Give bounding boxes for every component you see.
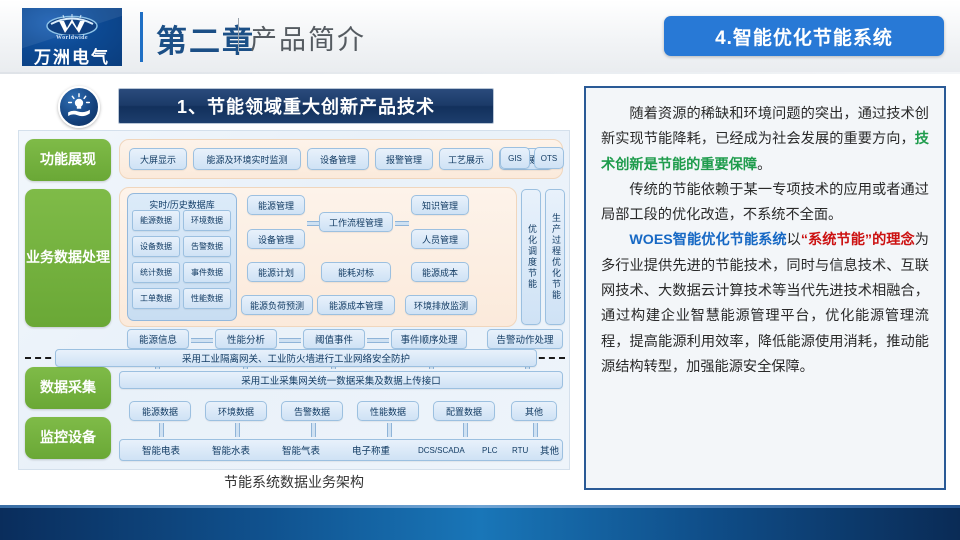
- proc-event-sequence[interactable]: 事件顺序处理: [391, 329, 467, 349]
- node-alarm-mgmt[interactable]: 报警管理: [375, 148, 433, 170]
- proc-threshold-event[interactable]: 阈值事件: [303, 329, 365, 349]
- p1-text-b: 。: [757, 157, 771, 173]
- diagram-caption: 节能系统数据业务架构: [18, 472, 570, 492]
- arrow-proc-3: [367, 336, 389, 343]
- description-panel: 随着资源的稀缺和环境问题的突出，通过技术创新实现节能降耗，已经成为社会发展的重要…: [584, 86, 946, 490]
- p3-product-name: WOES智能优化节能系统: [629, 232, 786, 248]
- db-item-env[interactable]: 环境数据: [183, 210, 231, 231]
- device-other[interactable]: 其他: [540, 443, 559, 457]
- device-bar: 智能电表 智能水表 智能气表 电子称重 DCS/SCADA PLC RTU 其他: [119, 439, 563, 461]
- db-item-device[interactable]: 设备数据: [132, 236, 180, 257]
- device-plc[interactable]: PLC: [482, 446, 498, 455]
- app-personnel-mgmt[interactable]: 人员管理: [411, 229, 469, 249]
- arrow-proc-1: [191, 336, 213, 343]
- node-big-screen[interactable]: 大屏显示: [129, 148, 187, 170]
- datatype-other[interactable]: 其他: [511, 401, 557, 421]
- app-load-forecast[interactable]: 能源负荷预测: [241, 295, 313, 315]
- logo-latin-text: Worldwide: [22, 35, 122, 41]
- lane-label-devices: 监控设备: [25, 417, 111, 459]
- logo-company-name: 万洲电气: [22, 43, 122, 66]
- proc-alarm-action[interactable]: 告警动作处理: [487, 329, 563, 349]
- app-energy-mgmt[interactable]: 能源管理: [247, 195, 305, 215]
- acquisition-gateway-bar[interactable]: 采用工业采集网关统一数据采集及数据上传接口: [119, 371, 563, 389]
- arrow-dt-3: [309, 423, 316, 437]
- db-item-performance[interactable]: 性能数据: [183, 288, 231, 309]
- arrow-dt-1: [157, 423, 164, 437]
- node-ots[interactable]: OTS: [534, 147, 564, 169]
- architecture-diagram: 功能展现 业务数据处理 数据采集 监控设备 大屏显示 能源及环境实时监测 设备管…: [18, 130, 570, 470]
- datatype-alarm[interactable]: 告警数据: [281, 401, 343, 421]
- header-accent-bar: [140, 12, 143, 62]
- app-energy-cost[interactable]: 能源成本: [411, 262, 469, 282]
- header-divider-rule: [0, 72, 960, 74]
- datatype-performance[interactable]: 性能数据: [357, 401, 419, 421]
- arrow-dt-6: [531, 423, 538, 437]
- p3-text-b: 为多行业提供先进的节能技术，同时与信息技术、互联网技术、大数据云计算技术等当代先…: [601, 232, 929, 374]
- p3-text-a: 以: [787, 232, 801, 248]
- proc-performance-analysis[interactable]: 性能分析: [215, 329, 277, 349]
- db-item-stats[interactable]: 统计数据: [132, 262, 180, 283]
- app-energy-cost-mgmt[interactable]: 能源成本管理: [317, 295, 395, 315]
- device-gas-meter[interactable]: 智能气表: [282, 443, 320, 457]
- paragraph-3: WOES智能优化节能系统以“系统节能”的理念为多行业提供先进的节能技术，同时与信…: [601, 228, 929, 380]
- arrow-proc-2: [279, 336, 301, 343]
- app-device-mgmt[interactable]: 设备管理: [247, 229, 305, 249]
- arrow-dt-2: [233, 423, 240, 437]
- app-knowledge-mgmt[interactable]: 知识管理: [411, 195, 469, 215]
- module-production-optimization[interactable]: 生产过程优化节能: [545, 189, 565, 325]
- lane-label-acquisition: 数据采集: [25, 367, 111, 409]
- p1-text-a: 随着资源的稀缺和环境问题的突出，通过技术创新实现节能降耗，已经成为社会发展的重要…: [601, 106, 929, 147]
- slide-footer: 致力全面系统节能 服务能管中心建设 - 36 -: [0, 508, 960, 540]
- db-item-event[interactable]: 事件数据: [183, 262, 231, 283]
- db-item-energy[interactable]: 能源数据: [132, 210, 180, 231]
- w-shield-icon: [45, 13, 99, 35]
- p3-concept-highlight: “系统节能”的理念: [801, 232, 915, 248]
- title-separator: [238, 18, 239, 52]
- section-badge: 4.智能优化节能系统: [664, 16, 944, 56]
- app-energy-benchmark[interactable]: 能耗对标: [321, 262, 391, 282]
- device-weighing[interactable]: 电子称重: [352, 443, 390, 457]
- app-emission-monitor[interactable]: 环境排放监测: [405, 295, 477, 315]
- paragraph-2: 传统的节能依赖于某一专项技术的应用或者通过局部工段的优化改造，不系统不全面。: [601, 178, 929, 229]
- node-device-mgmt[interactable]: 设备管理: [307, 148, 369, 170]
- lane-label-presentation: 功能展现: [25, 139, 111, 181]
- arrow-to-workflow-right: [395, 219, 409, 226]
- chapter-title: 第二章: [156, 16, 255, 61]
- app-energy-plan[interactable]: 能源计划: [247, 262, 305, 282]
- proc-energy-info[interactable]: 能源信息: [127, 329, 189, 349]
- slide-header: Worldwide 万洲电气 第二章 产品简介 4.智能优化节能系统: [0, 0, 960, 74]
- subsection-title: 1、节能领域重大创新产品技术: [177, 93, 435, 119]
- device-water-meter[interactable]: 智能水表: [212, 443, 250, 457]
- arrow-to-workflow-left: [307, 219, 319, 226]
- section-badge-label: 4.智能优化节能系统: [715, 23, 893, 50]
- node-energy-env-monitor[interactable]: 能源及环境实时监测: [193, 148, 301, 170]
- lane-label-business: 业务数据处理: [25, 189, 111, 327]
- app-workflow-mgmt[interactable]: 工作流程管理: [319, 212, 393, 232]
- db-item-alarm[interactable]: 告警数据: [183, 236, 231, 257]
- subsection-banner: 1、节能领域重大创新产品技术: [118, 88, 494, 124]
- security-gateway-bar[interactable]: 采用工业隔离网关、工业防火墙进行工业网络安全防护: [55, 349, 537, 367]
- node-process-display[interactable]: 工艺展示: [439, 148, 493, 170]
- paragraph-1: 随着资源的稀缺和环境问题的突出，通过技术创新实现节能降耗，已经成为社会发展的重要…: [601, 102, 929, 178]
- device-rtu[interactable]: RTU: [512, 446, 528, 455]
- arrow-dt-5: [461, 423, 468, 437]
- datatype-energy[interactable]: 能源数据: [129, 401, 191, 421]
- chapter-subtitle: 产品简介: [250, 18, 366, 57]
- node-gis[interactable]: GIS: [500, 147, 530, 169]
- hand-lightbulb-icon: [58, 86, 100, 128]
- db-item-workorder[interactable]: 工单数据: [132, 288, 180, 309]
- company-logo: Worldwide 万洲电气: [22, 8, 122, 66]
- datatype-env[interactable]: 环境数据: [205, 401, 267, 421]
- device-smart-meter[interactable]: 智能电表: [142, 443, 180, 457]
- arrow-dt-4: [385, 423, 392, 437]
- module-optimized-dispatch[interactable]: 优化调度节能: [521, 189, 541, 325]
- datatype-config[interactable]: 配置数据: [433, 401, 495, 421]
- device-dcs-scada[interactable]: DCS/SCADA: [418, 446, 465, 455]
